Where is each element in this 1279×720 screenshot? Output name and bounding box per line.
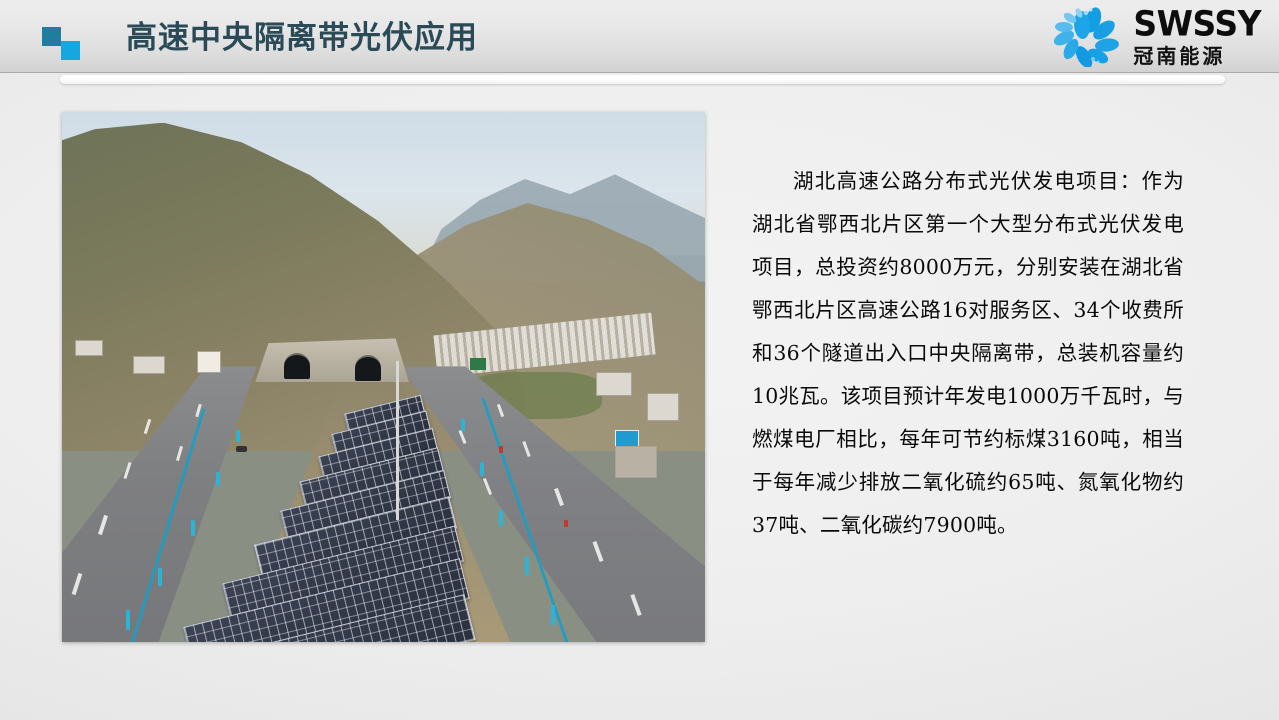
petal-flower-icon — [1049, 5, 1121, 67]
photo-guardrail-post — [191, 520, 195, 536]
slide: 高速中央隔离带光伏应用 — [0, 0, 1279, 720]
photo-guardrail-post — [158, 568, 162, 586]
logo-wordmark: SWSSY 冠南能源 — [1133, 7, 1261, 66]
slide-header: 高速中央隔离带光伏应用 — [0, 0, 1279, 72]
photo-guardrail-post — [499, 510, 503, 526]
photo-building — [596, 372, 632, 396]
company-logo: SWSSY 冠南能源 — [1049, 4, 1261, 68]
photo-guardrail-post — [216, 472, 220, 486]
logo-brand-subtitle: 冠南能源 — [1133, 46, 1261, 66]
accent-square-dark-icon — [42, 27, 61, 46]
photo-tunnel-portal-right — [355, 355, 381, 381]
header-separator-line — [0, 72, 1279, 73]
photo-guardrail-post — [551, 605, 555, 625]
photo-guardrail-post — [236, 430, 240, 442]
header-separator-bar — [60, 75, 1225, 84]
logo-brand-name: SWSSY — [1133, 6, 1261, 41]
photo-traffic-cone — [499, 446, 503, 453]
photo-building — [75, 340, 103, 356]
project-description: 湖北高速公路分布式光伏发电项目：作为湖北省鄂西北片区第一个大型分布式光伏发电项目… — [752, 160, 1184, 547]
photo-vehicle — [236, 446, 247, 452]
photo-building — [647, 393, 679, 421]
photo-tunnel-portal-left — [284, 353, 310, 379]
photo-guardrail-post — [525, 557, 529, 575]
photo-scene — [62, 112, 705, 642]
photo-building — [615, 446, 657, 478]
photo-light-pole — [396, 361, 399, 520]
photo-green-sign — [470, 358, 486, 370]
page-title: 高速中央隔离带光伏应用 — [126, 18, 478, 58]
photo-guardrail-post — [480, 462, 484, 476]
photo-building — [197, 351, 221, 373]
header-accent-squares — [42, 27, 86, 59]
photo-traffic-cone — [564, 520, 568, 527]
project-photo — [62, 112, 705, 642]
photo-building — [133, 356, 165, 374]
accent-square-light-icon — [61, 41, 80, 60]
photo-guardrail-post — [461, 419, 465, 431]
photo-guardrail-post — [126, 610, 130, 630]
